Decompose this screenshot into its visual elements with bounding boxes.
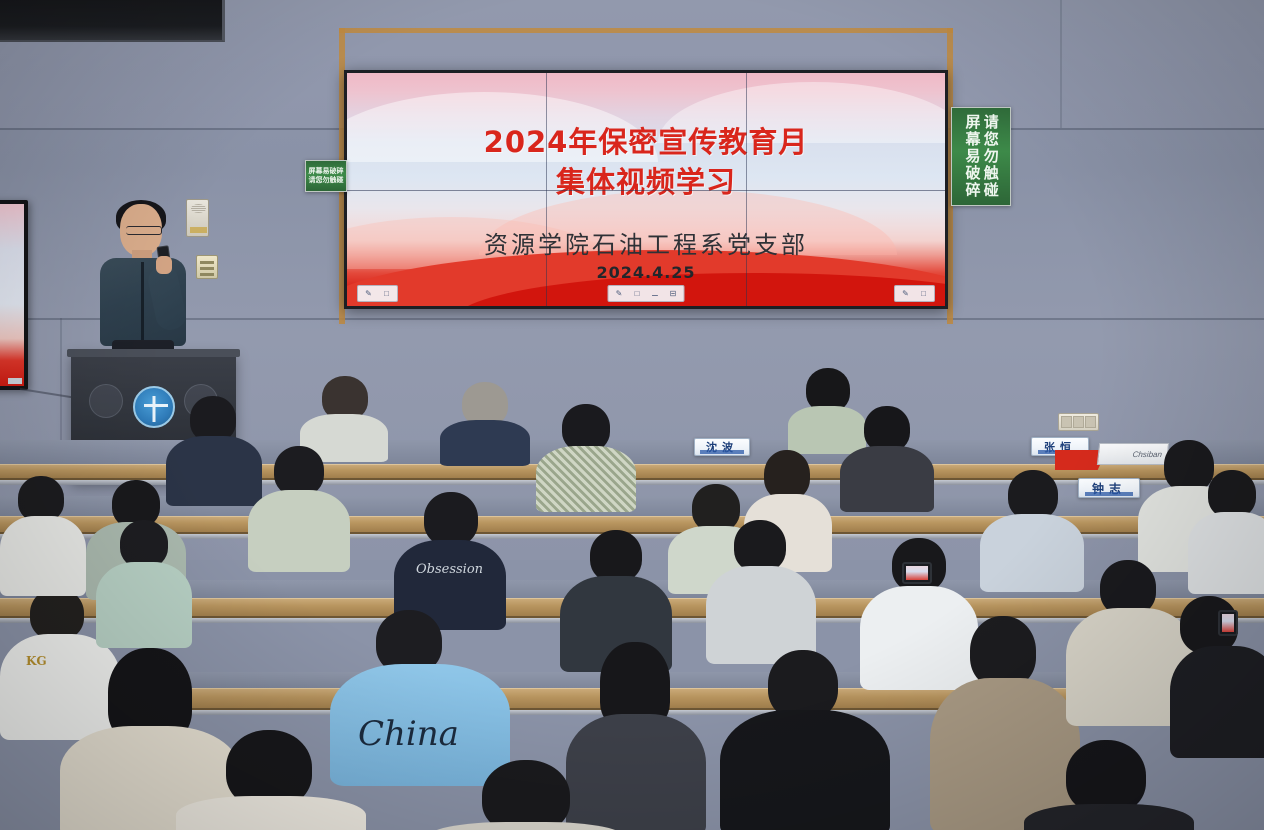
- phone-screen: [1222, 614, 1234, 632]
- side-display[interactable]: [0, 200, 28, 390]
- audience-member: [1170, 596, 1264, 756]
- speaker-label: [190, 227, 207, 233]
- podium-side-emblem: [89, 384, 123, 418]
- lecture-hall-photo: 2024年保密宣传教育月 集体视频学习 资源学院石油工程系党支部 2024.4.…: [0, 0, 1264, 830]
- person-body: [440, 420, 530, 466]
- audience-member: [440, 382, 530, 460]
- person-body: [1024, 804, 1194, 830]
- wall-control-panel[interactable]: [196, 255, 218, 279]
- speaker-grill-icon: [191, 204, 206, 213]
- ceiling-beam: [0, 0, 225, 42]
- outlet-socket[interactable]: [1061, 416, 1072, 428]
- slide-title-line-1: 2024年保密宣传教育月: [347, 119, 945, 161]
- audience-member: Obsession: [394, 492, 506, 626]
- person-head: [1208, 470, 1256, 518]
- person-body: [0, 516, 86, 596]
- audience-member: [248, 446, 350, 570]
- person-head: [1008, 470, 1058, 520]
- warning-sign-column-2: 请您勿触碰: [983, 114, 998, 199]
- panel-seam-vertical: [546, 73, 547, 306]
- person-body: [426, 822, 626, 830]
- audience-member: [96, 520, 192, 644]
- nameplate-text: 沈波: [706, 439, 738, 455]
- slide-title-line-2: 集体视频学习: [347, 159, 945, 201]
- pen-icon[interactable]: ✎: [899, 287, 912, 300]
- pen-icon[interactable]: ✎: [362, 287, 375, 300]
- audience-member: [300, 376, 388, 456]
- side-display-badge: [8, 378, 22, 384]
- person-head: [1066, 740, 1146, 814]
- audience-member: [1024, 740, 1194, 830]
- person-body: [536, 446, 636, 512]
- nameplate: 钟志: [1078, 478, 1140, 498]
- phone-screen: [906, 566, 928, 580]
- audience-member: [176, 730, 366, 830]
- audience-member: [426, 760, 626, 830]
- screen-toolbar-left[interactable]: ✎ □: [357, 285, 398, 302]
- person-body: [840, 446, 934, 512]
- glasses-icon: [126, 226, 162, 235]
- panel-seam-horizontal: [347, 190, 945, 191]
- warning-sign-line-1: 屏幕易破碎: [309, 168, 344, 175]
- video-wall-screen[interactable]: 2024年保密宣传教育月 集体视频学习 资源学院石油工程系党支部 2024.4.…: [347, 73, 945, 306]
- nameplate: 沈波: [694, 438, 750, 456]
- screen-toolbar-right[interactable]: ✎ □: [894, 285, 935, 302]
- person-head: [482, 760, 570, 830]
- videowall-trim-top: [339, 28, 953, 33]
- nameplate-text: 钟志: [1092, 480, 1126, 497]
- slide-date: 2024.4.25: [347, 263, 945, 282]
- keyboard-icon[interactable]: ⊟: [667, 287, 680, 300]
- presenter-shirt-placket: [141, 262, 144, 344]
- eraser-icon[interactable]: □: [631, 287, 644, 300]
- warning-sign-line-2: 请您勿触碰: [309, 177, 344, 184]
- person-head: [274, 446, 324, 496]
- audience-member: [536, 404, 636, 508]
- person-head: [120, 520, 168, 568]
- warning-sign-left: 屏幕易破碎 请您勿触碰: [305, 160, 347, 192]
- audience-member: [1188, 470, 1264, 590]
- warning-sign-column-1: 屏幕易破碎: [964, 114, 979, 199]
- video-wall[interactable]: 2024年保密宣传教育月 集体视频学习 资源学院石油工程系党支部 2024.4.…: [344, 70, 948, 309]
- screen-toolbar-center[interactable]: ✎ □ ⚊ ⊟: [608, 285, 685, 302]
- person-head: [590, 530, 642, 582]
- audience-member: [706, 520, 816, 660]
- person-head: [562, 404, 610, 452]
- person-body: [1188, 512, 1264, 594]
- person-body: [248, 490, 350, 572]
- panel-seam-vertical: [746, 73, 747, 306]
- audience-member: [840, 406, 934, 508]
- eraser-icon[interactable]: □: [380, 287, 393, 300]
- person-body: [176, 796, 366, 830]
- person-body: [720, 710, 890, 830]
- person-head: [734, 520, 786, 572]
- person-body: [96, 562, 192, 648]
- slide-organization: 资源学院石油工程系党支部: [347, 225, 945, 260]
- audience-member: [0, 476, 86, 592]
- person-head: [764, 450, 810, 500]
- outlet-socket[interactable]: [1085, 416, 1096, 428]
- person-head: [424, 492, 478, 546]
- mobile-phone[interactable]: [1218, 610, 1238, 636]
- side-display-screen[interactable]: [0, 204, 24, 386]
- eraser-icon[interactable]: □: [917, 287, 930, 300]
- wall-power-outlet[interactable]: [1058, 413, 1099, 431]
- presenter-hand: [156, 256, 172, 274]
- clear-icon[interactable]: ⚊: [649, 287, 662, 300]
- warning-sign-right: 屏幕易破碎 请您勿触碰: [951, 107, 1011, 206]
- phone-taking-photo[interactable]: [902, 562, 932, 584]
- pen-icon[interactable]: ✎: [613, 287, 626, 300]
- outlet-socket[interactable]: [1073, 416, 1084, 428]
